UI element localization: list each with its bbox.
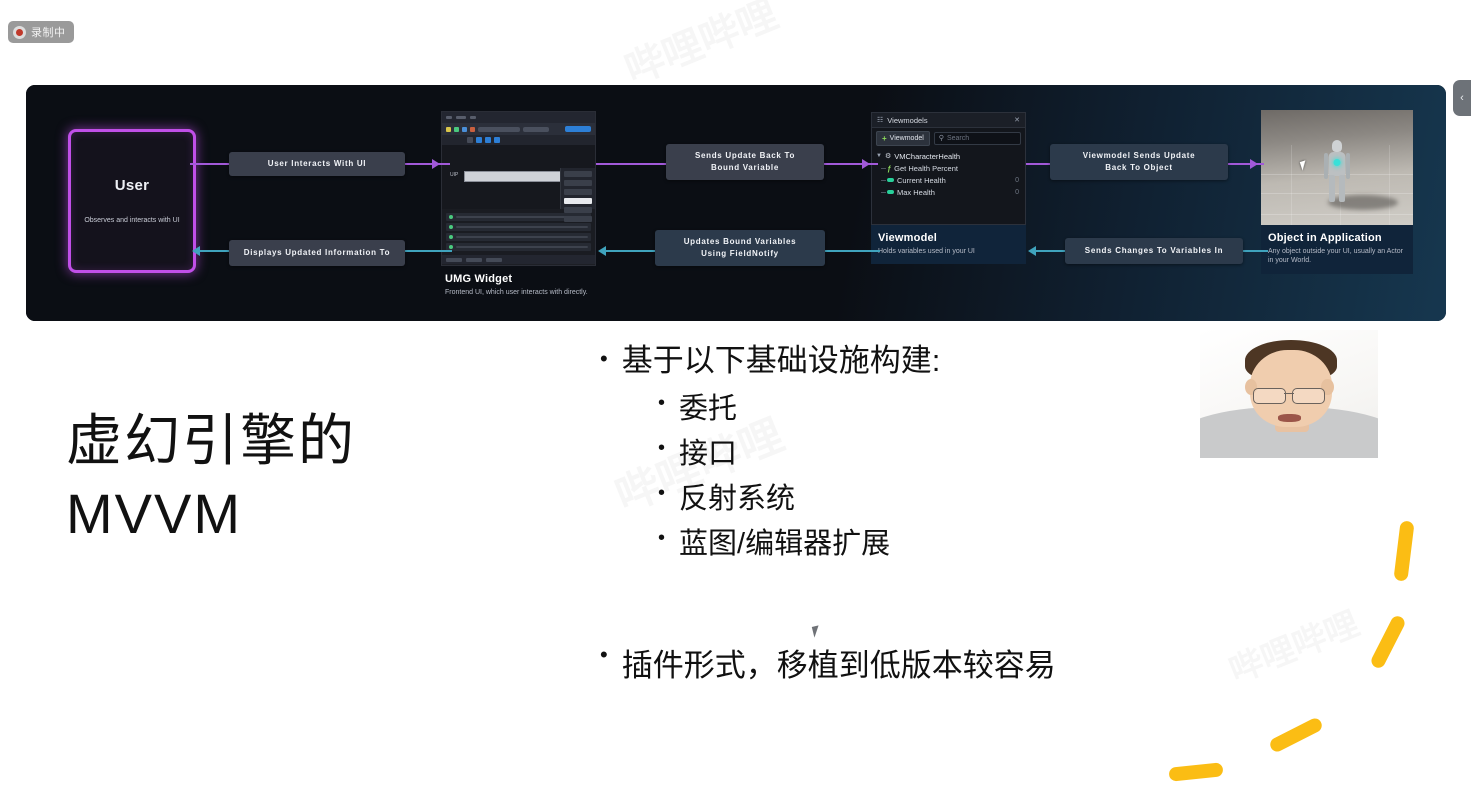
viewmodel-node-subtitle: Holds variables used in your UI — [878, 247, 1019, 256]
bullet-item: • 蓝图/编辑器扩展 — [658, 522, 1220, 567]
diagram-node-object: Object in Application Any object outside… — [1261, 110, 1413, 274]
chevron-left-icon: ‹ — [1460, 92, 1464, 104]
flow-label-updates-bound-variables: Updates Bound Variables Using FieldNotif… — [655, 230, 825, 266]
viewmodel-tree-item[interactable]: Max Health 0 — [876, 186, 1025, 198]
viewmodels-tree: ▼ ⚙ VMCharacterHealth ƒ Get Health Perce… — [872, 148, 1025, 198]
viewmodels-search-input[interactable]: ⚲ Search — [934, 132, 1021, 145]
viewport-scene — [1261, 110, 1413, 225]
mannequin-actor — [1324, 140, 1350, 202]
viewmodel-tree-item[interactable]: ƒ Get Health Percent — [876, 162, 1025, 174]
flow-label-line1: Sends Update Back To — [675, 150, 815, 162]
bullet-text: 接口 — [679, 432, 737, 477]
viewmodels-panel: ☷ Viewmodels ✕ + Viewmodel ⚲ Search ▼ ⚙ … — [871, 112, 1026, 225]
diagram-node-umg-widget: UIP UMG Widget Frontend UI, which user i… — [441, 111, 596, 297]
viewmodels-tabbar[interactable]: ☷ Viewmodels ✕ — [872, 113, 1025, 128]
flow-arrow-vm-to-umg — [598, 246, 606, 256]
variable-pin-icon — [887, 190, 894, 194]
viewmodels-tab-title: Viewmodels — [887, 116, 1010, 125]
viewmodel-item-label: Get Health Percent — [894, 164, 958, 173]
record-dot-icon — [13, 26, 26, 39]
editor-statusbar — [442, 255, 595, 264]
user-node-title: User — [115, 177, 150, 194]
flow-arrow-umg-to-user — [192, 246, 200, 256]
editor-toolbar — [442, 123, 595, 135]
flow-label-line1: Updates Bound Variables — [664, 236, 816, 248]
viewmodel-tree-item[interactable]: Current Health 0 — [876, 174, 1025, 186]
umg-node-subtitle: Frontend UI, which user interacts with d… — [445, 288, 592, 297]
user-node-subtitle: Observes and interacts with UI — [78, 216, 185, 225]
editor-subtoolbar — [442, 135, 595, 145]
viewmodel-item-value: 0 — [1015, 177, 1019, 184]
viewmodels-actionbar: + Viewmodel ⚲ Search — [872, 128, 1025, 148]
flow-arrow-umg-to-vm — [862, 159, 870, 169]
search-placeholder: Search — [947, 135, 969, 142]
viewmodels-icon: ☷ — [877, 116, 883, 124]
add-viewmodel-button[interactable]: + Viewmodel — [876, 131, 930, 146]
viewmodel-item-value: 0 — [1015, 189, 1019, 196]
flow-label-line1: Viewmodel Sends Update — [1059, 150, 1219, 162]
flow-label-line2: Bound Variable — [675, 162, 815, 174]
flow-arrow-obj-to-vm — [1028, 246, 1036, 256]
bullet-sublist: • 委托 • 接口 • 反射系统 • 蓝图/编辑器扩展 — [658, 387, 1220, 567]
viewmodel-root-label: VMCharacterHealth — [894, 152, 960, 161]
viewmodel-caption: Viewmodel Holds variables used in your U… — [871, 225, 1026, 264]
flow-label-sends-changes-to-variables: Sends Changes To Variables In — [1065, 238, 1243, 264]
variable-pin-icon — [887, 178, 894, 182]
umg-editor-screenshot: UIP — [441, 111, 596, 266]
umg-node-title: UMG Widget — [445, 273, 592, 285]
bullet-item-plugin: • 插件形式，移植到低版本较容易 — [600, 640, 1056, 685]
viewmodel-node-title: Viewmodel — [878, 232, 1019, 244]
bullet-item: • 基于以下基础设施构建: — [600, 342, 1220, 381]
add-viewmodel-label: Viewmodel — [890, 135, 924, 142]
bullet-glyph: • — [658, 477, 665, 522]
bullet-glyph: • — [658, 432, 665, 477]
flow-label-displays-updated-info: Displays Updated Information To — [229, 240, 405, 266]
bullet-glyph: • — [600, 342, 608, 381]
diagram-background — [26, 85, 1446, 321]
plus-icon: + — [882, 134, 887, 143]
bullet-item: • 委托 — [658, 387, 1220, 432]
flow-label-sends-update-bound-variable: Sends Update Back To Bound Variable — [666, 144, 824, 180]
flow-label-line2: Using FieldNotify — [664, 248, 816, 260]
viewmodel-item-label: Current Health — [897, 176, 946, 185]
object-node-title: Object in Application — [1268, 232, 1406, 244]
decorative-dash — [1393, 520, 1414, 581]
object-viewport-screenshot — [1261, 110, 1413, 225]
bullet-text: 蓝图/编辑器扩展 — [679, 522, 890, 567]
presenter-webcam — [1200, 330, 1378, 458]
bullet-text: 委托 — [679, 387, 737, 432]
object-node-subtitle: Any object outside your UI, usually an A… — [1268, 247, 1406, 266]
mvvm-flow-diagram: User Observes and interacts with UI — [26, 85, 1446, 321]
bullet-list: • 基于以下基础设施构建: • 委托 • 接口 • 反射系统 • 蓝图/编辑器扩… — [600, 342, 1220, 567]
viewmodel-tree-root[interactable]: ▼ ⚙ VMCharacterHealth — [876, 150, 1025, 162]
watermark: 哔哩哔哩 — [615, 0, 785, 96]
collapse-panel-button[interactable]: ‹ — [1453, 80, 1471, 116]
close-icon[interactable]: ✕ — [1014, 116, 1020, 124]
bullet-text: 基于以下基础设施构建: — [622, 342, 941, 381]
viewmodel-class-icon: ⚙ — [885, 152, 891, 160]
recording-badge: 录制中 — [8, 21, 74, 43]
bullet-glyph: • — [658, 387, 665, 432]
flow-label-viewmodel-sends-update: Viewmodel Sends Update Back To Object — [1050, 144, 1228, 180]
editor-canvas: UIP — [442, 145, 595, 209]
flow-label-line2: Back To Object — [1059, 162, 1219, 174]
bullet-item: • 反射系统 — [658, 477, 1220, 522]
chevron-down-icon[interactable]: ▼ — [876, 153, 882, 159]
bullet-item: • 接口 — [658, 432, 1220, 477]
bullet-glyph: • — [658, 522, 665, 567]
function-icon: ƒ — [887, 164, 891, 173]
bullet-text: 插件形式，移植到低版本较容易 — [622, 640, 1056, 685]
bullet-text: 反射系统 — [679, 477, 795, 522]
search-icon: ⚲ — [939, 134, 944, 142]
umg-caption: UMG Widget Frontend UI, which user inter… — [441, 266, 596, 297]
viewport-cursor-icon — [1299, 160, 1307, 170]
flow-arrow-vm-to-obj — [1250, 159, 1258, 169]
page-title-line1: 虚幻引擎的 — [66, 405, 496, 478]
bullet-glyph: • — [600, 640, 608, 685]
page-title-line2: MVVM — [66, 478, 496, 551]
object-caption: Object in Application Any object outside… — [1261, 225, 1413, 274]
viewmodel-item-label: Max Health — [897, 188, 935, 197]
decorative-dash — [1168, 762, 1223, 782]
editor-details-panel — [560, 168, 595, 209]
diagram-node-user: User Observes and interacts with UI — [68, 129, 196, 273]
decorative-dash — [1369, 614, 1407, 670]
recording-label: 录制中 — [31, 24, 66, 40]
watermark: 哔哩哔哩 — [1221, 596, 1365, 692]
page-title: 虚幻引擎的 MVVM — [66, 405, 496, 551]
flow-arrow-user-to-umg — [432, 159, 440, 169]
diagram-node-viewmodel: ☷ Viewmodels ✕ + Viewmodel ⚲ Search ▼ ⚙ … — [871, 112, 1026, 264]
decorative-dash — [1268, 716, 1324, 754]
editor-titlebar — [442, 112, 595, 123]
flow-label-user-interacts: User Interacts With UI — [229, 152, 405, 176]
